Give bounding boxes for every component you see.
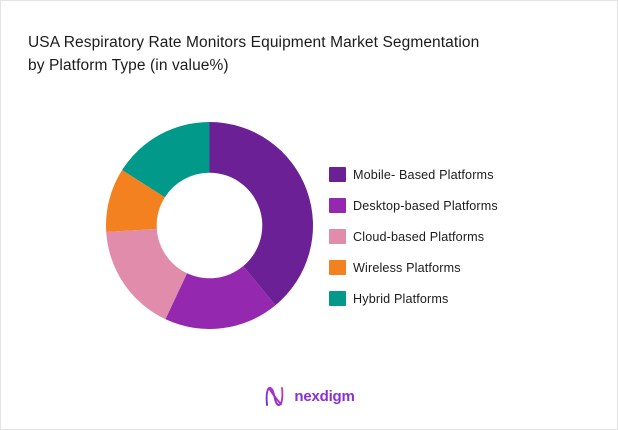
- legend-item-label: Mobile- Based Platforms: [353, 168, 494, 182]
- legend-item[interactable]: Desktop-based Platforms: [329, 190, 579, 221]
- legend-item-label: Wireless Platforms: [353, 261, 461, 275]
- donut-slice-group: [106, 122, 313, 329]
- legend-item-label: Desktop-based Platforms: [353, 199, 498, 213]
- legend-item[interactable]: Cloud-based Platforms: [329, 221, 579, 252]
- chart-title: USA Respiratory Rate Monitors Equipment …: [28, 31, 588, 77]
- legend-color-swatch: [329, 229, 346, 244]
- brand-logo: nexdigm: [1, 385, 617, 407]
- chart-legend: Mobile- Based PlatformsDesktop-based Pla…: [329, 159, 579, 314]
- donut-chart-svg: [106, 122, 313, 329]
- legend-color-swatch: [329, 260, 346, 275]
- legend-color-swatch: [329, 167, 346, 182]
- legend-item[interactable]: Mobile- Based Platforms: [329, 159, 579, 190]
- legend-item[interactable]: Hybrid Platforms: [329, 283, 579, 314]
- donut-chart: [106, 122, 313, 329]
- legend-item-label: Cloud-based Platforms: [353, 230, 484, 244]
- legend-color-swatch: [329, 291, 346, 306]
- legend-item-label: Hybrid Platforms: [353, 292, 448, 306]
- legend-color-swatch: [329, 198, 346, 213]
- chart-page: USA Respiratory Rate Monitors Equipment …: [0, 0, 618, 430]
- legend-item[interactable]: Wireless Platforms: [329, 252, 579, 283]
- nexdigm-n-logo-icon: [263, 385, 287, 407]
- brand-name: nexdigm: [294, 388, 354, 405]
